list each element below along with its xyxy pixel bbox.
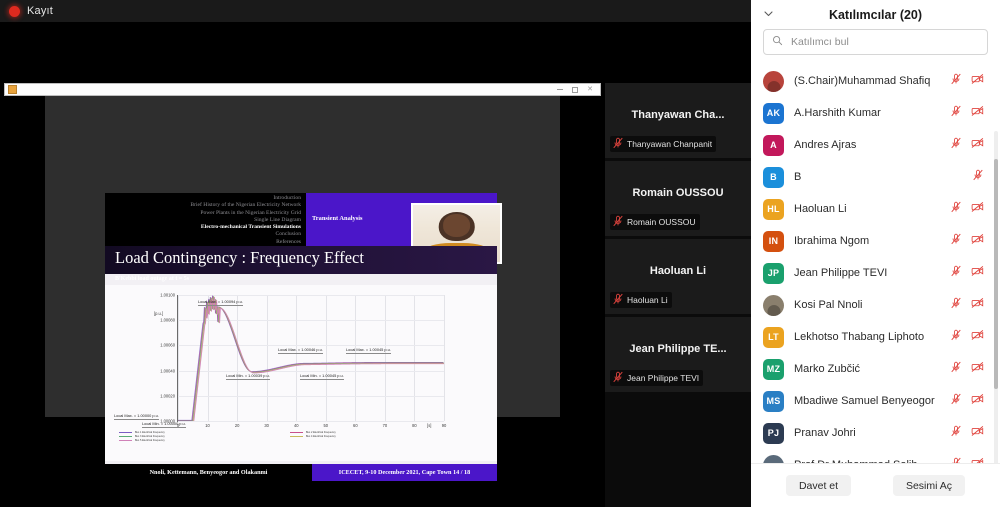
chart-annotation: Local Min. = 1.00039 p.u.	[226, 373, 270, 380]
toc-item: Brief History of the Nigerian Electricit…	[105, 202, 301, 209]
participant-status-icons	[972, 168, 990, 186]
avatar-photo	[763, 455, 784, 464]
footer-authors-text: Nnoli, Kettemann, Benyeogor and Olakanmi	[150, 469, 268, 476]
participant-name: Lekhotso Thabang Liphoto	[794, 331, 940, 343]
video-thumbnail[interactable]: Haoluan LiHaoluan Li	[605, 239, 751, 314]
video-thumbnail[interactable]: Thanyawan Cha...Thanyawan Chanpanit	[605, 83, 751, 158]
participants-list[interactable]: (S.Chair)Muhammad ShafiqAKA.Harshith Kum…	[751, 65, 1000, 463]
participants-scrollbar[interactable]	[994, 131, 998, 463]
participants-footer: Davet et Sesimi Aç	[751, 463, 1000, 507]
x-axis-tick: 10	[205, 423, 210, 428]
participants-panel: Katılımcılar (20) (S.Chair)Muhammad Shaf…	[751, 0, 1000, 507]
participant-status-icons	[950, 456, 990, 463]
chart-annotation: Local Max. = 1.00045 p.u.	[346, 347, 391, 354]
avatar-photo	[763, 295, 784, 316]
avatar-initials: PJ	[763, 423, 784, 444]
x-axis-tick: 70	[383, 423, 388, 428]
toc-item: References	[105, 239, 301, 246]
chart-series-line	[178, 296, 444, 421]
slide-title-bar: Load Contingency : Frequency Effect	[105, 246, 497, 274]
participant-name: Ibrahima Ngom	[794, 235, 940, 247]
y-axis-tick: 1.00060	[160, 343, 175, 348]
mic-off-icon[interactable]	[950, 104, 962, 122]
avatar-initials: A	[763, 135, 784, 156]
participant-status-icons	[950, 232, 990, 250]
shared-window-titlebar: ✕	[4, 83, 601, 96]
mic-off-icon[interactable]	[950, 72, 962, 90]
mic-off-icon	[612, 293, 624, 307]
participant-name: Haoluan Li	[794, 203, 940, 215]
x-axis-tick: 80	[412, 423, 417, 428]
avatar-initials: LT	[763, 327, 784, 348]
chart-annotation: Local Max. = 1.00000 p.u.	[114, 413, 159, 420]
x-axis-tick: 20	[235, 423, 240, 428]
participant-status-icons	[950, 200, 990, 218]
participant-row[interactable]: Kosi Pal Nnoli	[751, 289, 1000, 321]
zoom-meeting-window: Kayıt ✕ Introduction Br	[0, 0, 1000, 507]
participant-row[interactable]: INIbrahima Ngom	[751, 225, 1000, 257]
avatar-initials: IN	[763, 231, 784, 252]
video-off-icon[interactable]	[971, 72, 984, 90]
participant-status-icons	[950, 136, 990, 154]
mic-off-icon[interactable]	[950, 232, 962, 250]
participant-status-icons	[950, 72, 990, 90]
avatar-initials: B	[763, 167, 784, 188]
participant-row[interactable]: AAndres Ajras	[751, 129, 1000, 161]
video-off-icon[interactable]	[971, 200, 984, 218]
thumbnail-display-name: Jean Philippe TE...	[605, 343, 751, 355]
record-stop-icon[interactable]	[9, 6, 20, 17]
participant-row[interactable]: MZMarko Zubčić	[751, 353, 1000, 385]
avatar-initials: HL	[763, 199, 784, 220]
participants-header: Katılımcılar (20)	[751, 0, 1000, 29]
mic-off-icon[interactable]	[950, 296, 962, 314]
search-box[interactable]	[763, 29, 988, 55]
participant-name: Andres Ajras	[794, 139, 940, 151]
legend-item: Bus 1 Electrical Frequency	[119, 431, 278, 434]
participant-video-strip[interactable]: Thanyawan Cha...Thanyawan ChanpanitRomai…	[605, 83, 751, 507]
video-off-icon[interactable]	[971, 264, 984, 282]
mic-off-icon[interactable]	[950, 200, 962, 218]
chart-gridline-y	[178, 421, 444, 422]
x-axis-tick: 90	[442, 423, 447, 428]
participant-row[interactable]: HLHaoluan Li	[751, 193, 1000, 225]
thumbnail-display-name: Thanyawan Cha...	[605, 109, 751, 121]
video-thumbnail[interactable]: Jean Philippe TE...Jean Philippe TEVI	[605, 317, 751, 392]
participant-name: B	[794, 171, 962, 183]
letterbox-right	[560, 96, 601, 417]
maximize-icon[interactable]	[572, 87, 578, 93]
video-off-icon[interactable]	[971, 232, 984, 250]
participant-status-icons	[950, 264, 990, 282]
chart-annotation: Local Max. = 1.00046 p.u.	[278, 347, 323, 354]
minimize-icon[interactable]	[557, 89, 563, 90]
mic-off-icon[interactable]	[950, 264, 962, 282]
legend-label: Bus 5 Electrical Frequency	[135, 439, 165, 442]
legend-item: Bus 5 Electrical Frequency	[119, 439, 278, 442]
recording-bar: Kayıt	[0, 0, 751, 22]
app-icon	[8, 85, 17, 94]
mic-off-icon[interactable]	[950, 456, 962, 463]
mic-off-icon[interactable]	[950, 360, 962, 378]
legend-label: Bus 4 Electrical Frequency	[306, 435, 336, 438]
participant-name: Mbadiwe Samuel Benyeogor	[794, 395, 940, 407]
legend-label: Bus 1 Electrical Frequency	[135, 431, 165, 434]
slide-header: Introduction Brief History of the Nigeri…	[105, 193, 497, 246]
avatar-initials: MS	[763, 391, 784, 412]
slide-section-label: Transient Analysis	[312, 215, 362, 222]
search-container	[751, 29, 1000, 65]
thumbnail-tag-label: Haoluan Li	[627, 295, 668, 305]
participant-status-icons	[950, 104, 990, 122]
x-axis-tick: 30	[264, 423, 269, 428]
thumbnail-name-tag: Romain OUSSOU	[610, 214, 700, 230]
chart-series-group	[178, 295, 444, 421]
mic-off-icon	[612, 215, 624, 229]
participant-row[interactable]: LTLekhotso Thabang Liphoto	[751, 321, 1000, 353]
y-axis-tick: 1.00040	[160, 368, 175, 373]
legend-label: Bus 2 Electrical Frequency	[306, 431, 336, 434]
participant-name: Kosi Pal Nnoli	[794, 299, 940, 311]
slide-subtitle: B'Kebbi load outage at t = 5s	[115, 276, 189, 282]
chart-legend: Bus 1 Electrical FrequencyBus 2 Electric…	[119, 431, 449, 442]
video-off-icon[interactable]	[971, 296, 984, 314]
participant-name: Jean Philippe TEVI	[794, 267, 940, 279]
meeting-stage: Kayıt ✕ Introduction Br	[0, 0, 751, 507]
mic-off-icon	[612, 137, 624, 151]
thumbnail-tag-label: Thanyawan Chanpanit	[627, 139, 712, 149]
participant-row[interactable]: AKA.Harshith Kumar	[751, 97, 1000, 129]
chart-plot-area: [p.u.] 0102030405060708090[s]1.000001.00…	[177, 295, 444, 422]
video-off-icon[interactable]	[971, 392, 984, 410]
mic-off-icon	[612, 371, 624, 385]
legend-item: Bus 4 Electrical Frequency	[290, 435, 449, 438]
letterbox-left	[4, 96, 45, 417]
chart-annotation: Local Min. = 1.00045 p.u.	[300, 373, 344, 380]
thumbnail-tag-label: Jean Philippe TEVI	[627, 373, 699, 383]
video-off-icon[interactable]	[971, 456, 984, 463]
participant-row[interactable]: JPJean Philippe TEVI	[751, 257, 1000, 289]
participant-name: A.Harshith Kumar	[794, 107, 940, 119]
video-off-icon[interactable]	[971, 360, 984, 378]
slide-toc: Introduction Brief History of the Nigeri…	[105, 193, 306, 246]
participant-name: Pranav Johri	[794, 427, 940, 439]
video-off-icon[interactable]	[971, 104, 984, 122]
participant-name: (S.Chair)Muhammad Shafiq	[794, 75, 940, 87]
slide-footer-authors: Nnoli, Kettemann, Benyeogor and Olakanmi	[105, 464, 312, 481]
thumbnail-name-tag: Haoluan Li	[610, 292, 672, 308]
thumbnail-display-name: Haoluan Li	[605, 265, 751, 277]
unmute-button[interactable]: Sesimi Aç	[893, 475, 965, 496]
avatar-photo	[763, 71, 784, 92]
x-axis-tick: 60	[353, 423, 358, 428]
participant-row[interactable]: PJPranav Johri	[751, 417, 1000, 449]
avatar-initials: AK	[763, 103, 784, 124]
frequency-chart: [p.u.] 0102030405060708090[s]1.000001.00…	[105, 285, 497, 461]
participants-title: Katılımcılar (20)	[751, 8, 1000, 22]
slide-body: [p.u.] 0102030405060708090[s]1.000001.00…	[105, 285, 497, 461]
legend-label: Bus 3 Electrical Frequency	[135, 435, 165, 438]
chart-annotation: Local Min. = 1.00000 p.u.	[142, 421, 186, 428]
avatar-initials: JP	[763, 263, 784, 284]
mic-off-icon[interactable]	[972, 168, 984, 186]
toc-item: Single Line Diagram	[105, 217, 301, 224]
search-input[interactable]	[789, 35, 979, 49]
slide-footer-conference: ICECET, 9-10 December 2021, Cape Town 14…	[312, 464, 497, 481]
y-axis-tick: 1.00080	[160, 318, 175, 323]
participant-status-icons	[950, 392, 990, 410]
mic-off-icon[interactable]	[950, 392, 962, 410]
participant-name: Prof Dr Muhammad Salih	[794, 459, 940, 463]
thumbnail-display-name: Romain OUSSOU	[605, 187, 751, 199]
video-off-icon[interactable]	[971, 328, 984, 346]
y-axis-unit-label: [p.u.]	[154, 311, 163, 316]
y-axis-tick: 1.00100	[160, 293, 175, 298]
video-off-icon[interactable]	[971, 424, 984, 442]
participant-row[interactable]: Prof Dr Muhammad Salih	[751, 449, 1000, 463]
mic-off-icon[interactable]	[950, 136, 962, 154]
chart-gridline-x	[444, 295, 445, 421]
participant-name: Marko Zubčić	[794, 363, 940, 375]
presentation-slide: Introduction Brief History of the Nigeri…	[105, 193, 497, 481]
toc-item: Power Plants in the Nigerian Electricity…	[105, 210, 301, 217]
participant-status-icons	[950, 360, 990, 378]
mic-off-icon[interactable]	[950, 328, 962, 346]
x-axis-unit-label: [s]	[427, 423, 431, 428]
legend-item: Bus 3 Electrical Frequency	[119, 435, 278, 438]
chevron-down-icon[interactable]	[763, 6, 774, 24]
y-axis-tick: 1.00020	[160, 393, 175, 398]
participant-status-icons	[950, 424, 990, 442]
footer-conference-text: ICECET, 9-10 December 2021, Cape Town 14…	[339, 469, 470, 476]
x-axis-tick: 50	[323, 423, 328, 428]
toc-item: Conclusion	[105, 231, 301, 238]
participant-status-icons	[950, 328, 990, 346]
video-thumbnail[interactable]: Romain OUSSOURomain OUSSOU	[605, 161, 751, 236]
chart-annotation: Local Max. = 1.00094 p.u.	[198, 299, 243, 306]
toc-item-active: Electro-mechanical Transient Simulations	[105, 224, 301, 231]
participant-status-icons	[950, 296, 990, 314]
participant-row[interactable]: MSMbadiwe Samuel Benyeogor	[751, 385, 1000, 417]
slide-footer: Nnoli, Kettemann, Benyeogor and Olakanmi…	[105, 464, 497, 481]
close-icon[interactable]: ✕	[587, 86, 593, 93]
participant-row[interactable]: (S.Chair)Muhammad Shafiq	[751, 65, 1000, 97]
legend-item: Bus 2 Electrical Frequency	[290, 431, 449, 434]
recording-label: Kayıt	[27, 5, 53, 17]
thumbnail-name-tag: Jean Philippe TEVI	[610, 370, 703, 386]
avatar-face	[443, 214, 471, 237]
search-icon	[772, 33, 783, 51]
avatar-initials: MZ	[763, 359, 784, 380]
participant-row[interactable]: BB	[751, 161, 1000, 193]
mic-off-icon[interactable]	[950, 424, 962, 442]
video-off-icon[interactable]	[971, 136, 984, 154]
shared-screen[interactable]: ✕ Introduction Brief History of the Nige…	[0, 83, 605, 417]
slide-title: Load Contingency : Frequency Effect	[115, 248, 364, 268]
thumbnail-name-tag: Thanyawan Chanpanit	[610, 136, 716, 152]
x-axis-tick: 40	[294, 423, 299, 428]
thumbnail-tag-label: Romain OUSSOU	[627, 217, 696, 227]
invite-button[interactable]: Davet et	[786, 475, 851, 496]
